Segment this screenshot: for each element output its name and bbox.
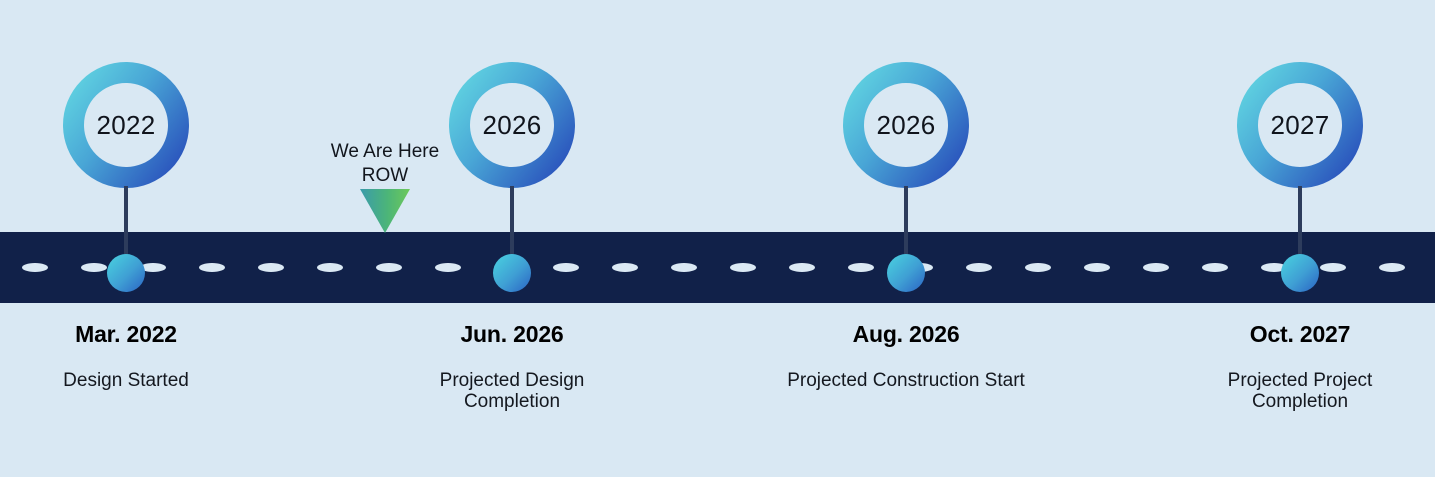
road-dash <box>1202 263 1228 272</box>
milestone-caption: Oct. 2027Projected Project Completion <box>1185 322 1415 413</box>
milestone-description: Projected Construction Start <box>761 370 1051 391</box>
milestone-description: Projected Project Completion <box>1185 370 1415 413</box>
milestone-caption: Mar. 2022Design Started <box>0 322 306 391</box>
road-dash <box>1143 263 1169 272</box>
milestone-description: Projected Design Completion <box>397 370 627 413</box>
road-dash <box>1379 263 1405 272</box>
road-dash <box>1320 263 1346 272</box>
we-are-here-line-2: ROW <box>275 164 495 188</box>
milestone-year: 2026 <box>843 62 969 188</box>
milestone-caption: Aug. 2026Projected Construction Start <box>761 322 1051 391</box>
milestone-caption: Jun. 2026Projected Design Completion <box>397 322 627 413</box>
milestone-ring: 2022 <box>63 62 189 188</box>
timeline-road-bar <box>0 232 1435 303</box>
milestone-node-ball <box>887 254 925 292</box>
road-dash <box>435 263 461 272</box>
milestone-date: Aug. 2026 <box>761 322 1051 346</box>
we-are-here-label: We Are Here ROW <box>275 140 495 189</box>
milestone-ring: 2026 <box>843 62 969 188</box>
road-dash <box>966 263 992 272</box>
milestone-date: Jun. 2026 <box>397 322 627 346</box>
road-dash <box>1025 263 1051 272</box>
milestone-year: 2022 <box>63 62 189 188</box>
road-dash <box>22 263 48 272</box>
milestone-node-ball <box>493 254 531 292</box>
project-timeline-infographic: 2022Mar. 2022Design Started2026Jun. 2026… <box>0 0 1435 477</box>
road-dash <box>730 263 756 272</box>
road-dash <box>317 263 343 272</box>
road-dash <box>789 263 815 272</box>
milestone-ring: 2027 <box>1237 62 1363 188</box>
milestone-node-ball <box>1281 254 1319 292</box>
road-dash <box>612 263 638 272</box>
road-dash <box>848 263 874 272</box>
road-dash <box>258 263 284 272</box>
we-are-here-line-1: We Are Here <box>331 141 439 162</box>
road-dash <box>553 263 579 272</box>
milestone-date: Mar. 2022 <box>0 322 306 346</box>
milestone-year: 2027 <box>1237 62 1363 188</box>
milestone-date: Oct. 2027 <box>1185 322 1415 346</box>
milestone-description: Design Started <box>0 370 306 391</box>
road-dash <box>81 263 107 272</box>
road-dash <box>376 263 402 272</box>
down-triangle-icon <box>360 189 410 233</box>
road-dash <box>199 263 225 272</box>
road-dash <box>1084 263 1110 272</box>
road-dash <box>671 263 697 272</box>
milestone-node-ball <box>107 254 145 292</box>
